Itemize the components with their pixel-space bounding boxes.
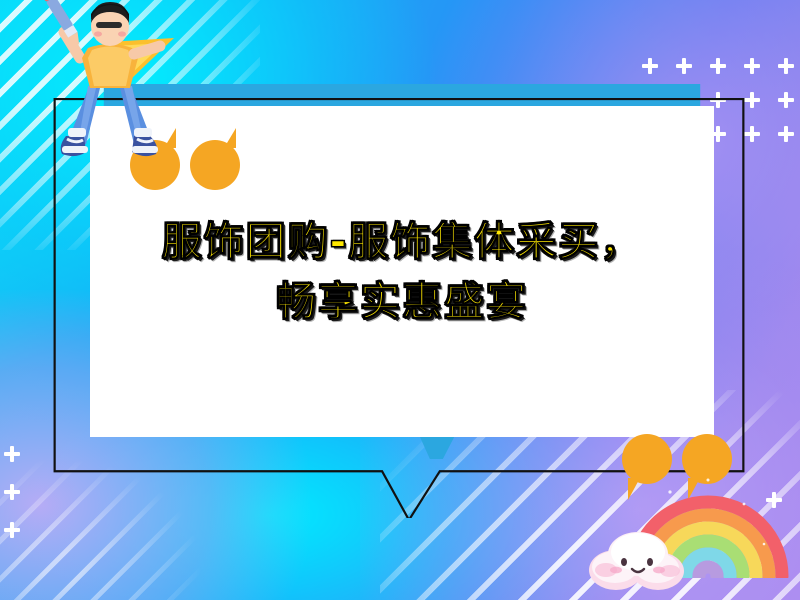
pencil-icon — [42, 0, 84, 48]
head — [91, 2, 129, 46]
title-line-1: 服饰团购-服饰集体采买， — [162, 219, 643, 265]
poster-canvas: 服饰团购-服饰集体采买， 畅享实惠盛宴 — [0, 0, 800, 600]
smiling-cloud-icon — [586, 526, 692, 592]
title-line-2: 畅享实惠盛宴 — [276, 279, 528, 325]
boy-character-illustration — [34, 0, 194, 176]
tshirt — [82, 44, 138, 88]
plus-grid-left — [4, 446, 34, 556]
sneakers — [61, 128, 158, 156]
